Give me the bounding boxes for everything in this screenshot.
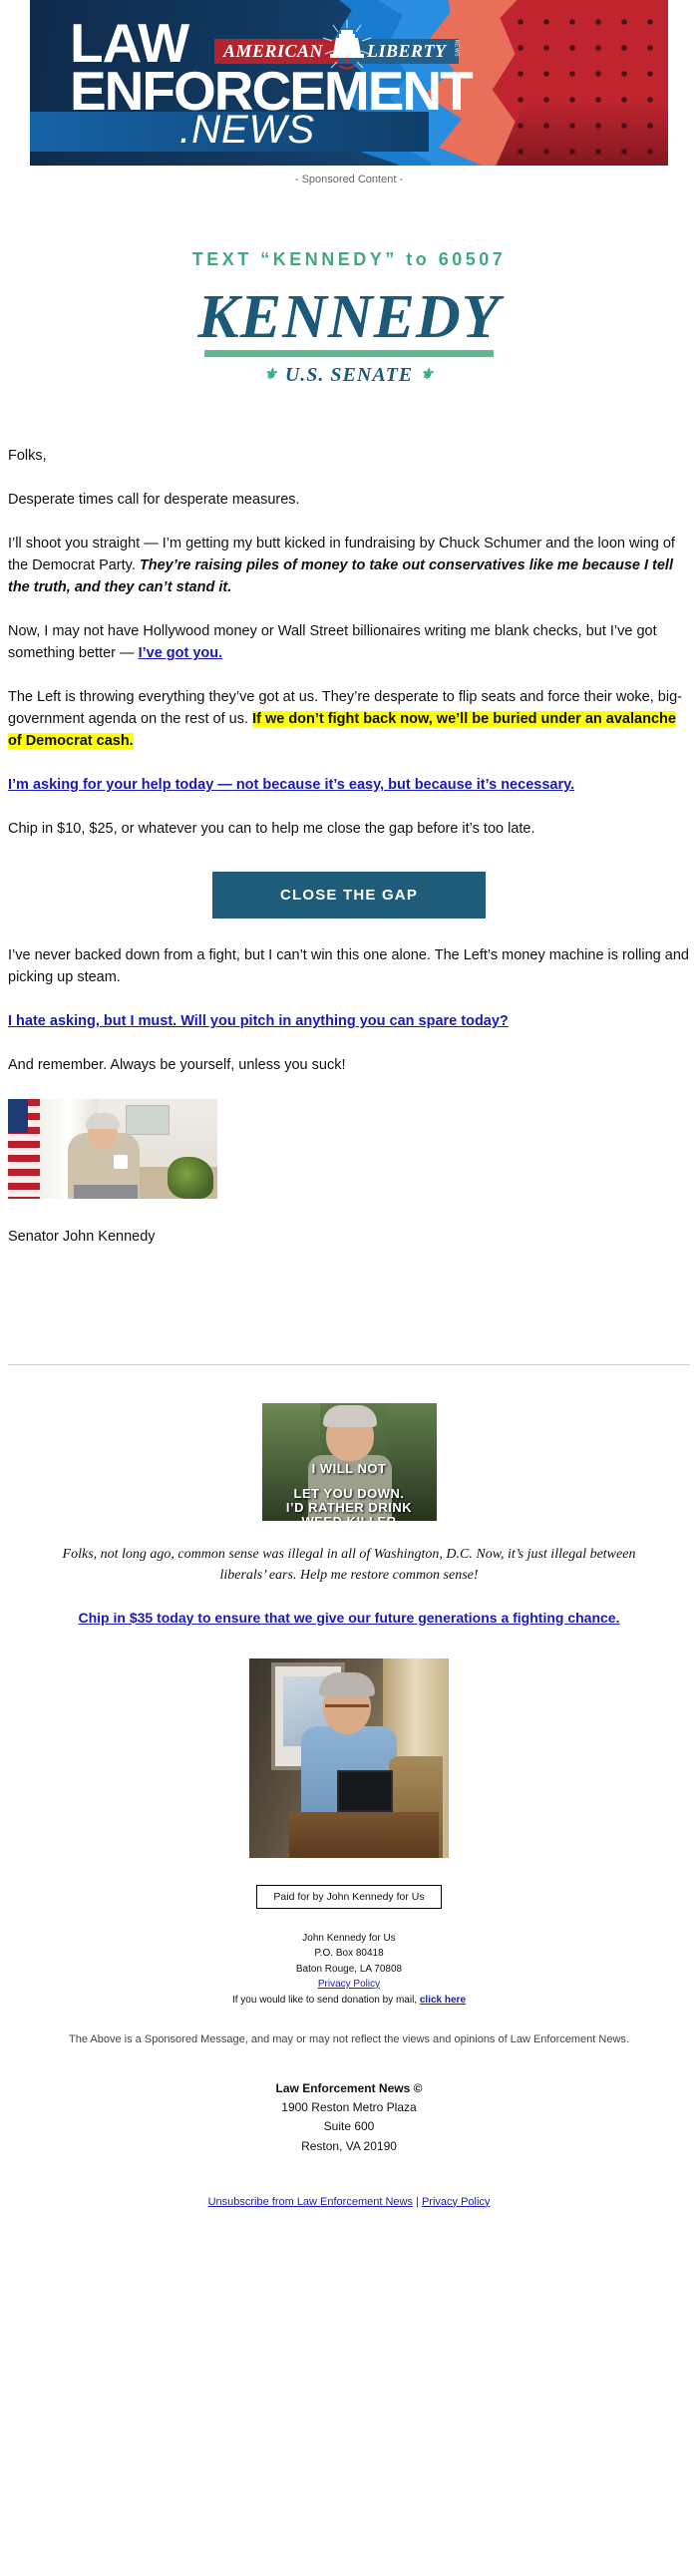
meme-text-1: I WILL NOT <box>312 1461 387 1476</box>
meme-container: I WILL NOT LET YOU DOWN. I’D RATHER DRIN… <box>0 1365 698 1526</box>
law-enforcement-news-banner[interactable]: LAW ENFORCEMENT .NEWS AMERICAN LIBERTY N… <box>30 0 668 166</box>
meme-overlay-line1: I WILL NOT <box>262 1461 437 1476</box>
liberty-bell-icon <box>319 20 375 78</box>
close-the-gap-button[interactable]: CLOSE THE GAP <box>212 872 486 919</box>
salutation: Folks, <box>8 445 690 467</box>
photo1-coffee-mug <box>114 1155 128 1169</box>
photo2-tablet-device <box>337 1770 393 1812</box>
privacy-policy-link-footer[interactable]: Privacy Policy <box>422 2196 490 2208</box>
committee-po-box: P.O. Box 80418 <box>0 1946 698 1962</box>
meme-caption: Folks, not long ago, common sense was il… <box>0 1526 698 1586</box>
publisher-address-3: Reston, VA 20190 <box>0 2137 698 2156</box>
us-senate-label: U.S. SENATE <box>285 364 413 386</box>
kennedy-logo-block[interactable]: TEXT “KENNEDY” to 60507 KENNEDY ⚜U.S. SE… <box>0 189 698 387</box>
publisher-address-2: Suite 600 <box>0 2117 698 2136</box>
photo1-person-legs <box>74 1185 138 1199</box>
committee-city-state-zip: Baton Rouge, LA 70808 <box>0 1962 698 1978</box>
pitch-in-link[interactable]: I hate asking, but I must. Will you pitc… <box>8 1013 509 1029</box>
signature-name: Senator John Kennedy <box>0 1199 698 1245</box>
committee-address-block: John Kennedy for Us P.O. Box 80418 Baton… <box>0 1909 698 2009</box>
letter-body: Folks, Desperate times call for desperat… <box>0 387 698 840</box>
privacy-policy-row: Privacy Policy <box>0 1977 698 1993</box>
paragraph-3: Now, I may not have Hollywood money or W… <box>8 620 690 664</box>
asking-for-help-link[interactable]: I’m asking for your help today — not bec… <box>8 777 574 793</box>
privacy-policy-link-committee[interactable]: Privacy Policy <box>318 1979 380 1990</box>
mail-donation-click-here-link[interactable]: click here <box>420 1995 466 2006</box>
paragraph-2: I’ll shoot you straight — I’m getting my… <box>8 533 690 598</box>
paragraph-5: I’m asking for your help today — not bec… <box>8 774 690 796</box>
paragraph-9: And remember. Always be yourself, unless… <box>8 1054 690 1076</box>
paragraph-4: The Left is throwing everything they’ve … <box>8 686 690 752</box>
text-to-donate-line: TEXT “KENNEDY” to 60507 <box>0 249 698 270</box>
meme-overlay-lines: LET YOU DOWN. I’D RATHER DRINK WEED KILL… <box>262 1487 437 1521</box>
unsubscribe-link[interactable]: Unsubscribe from Law Enforcement News <box>208 2196 413 2208</box>
photo1-plant <box>168 1157 213 1199</box>
photo1-flag-canton <box>8 1099 28 1133</box>
photo1-person-hair <box>86 1113 120 1129</box>
photo2-desk <box>289 1812 439 1858</box>
publisher-footer: Law Enforcement News © 1900 Reston Metro… <box>0 2045 698 2156</box>
paragraph-8: I hate asking, but I must. Will you pitc… <box>8 1010 690 1032</box>
paid-for-disclaimer-box: Paid for by John Kennedy for Us <box>256 1885 441 1909</box>
fleur-de-lis-left-icon: ⚜ <box>256 367 284 383</box>
masthead-wordmark: LAW ENFORCEMENT <box>70 18 472 117</box>
us-senate-line: ⚜U.S. SENATE⚜ <box>0 364 698 387</box>
photo2-person-hair <box>319 1672 375 1696</box>
ive-got-you-link[interactable]: I’ve got you. <box>139 645 223 661</box>
meme-cta-container: Chip in $35 today to ensure that we give… <box>0 1586 698 1629</box>
chip-in-35-link[interactable]: Chip in $35 today to ensure that we give… <box>79 1610 620 1626</box>
email-page: LAW ENFORCEMENT .NEWS AMERICAN LIBERTY N… <box>0 0 698 2230</box>
sponsored-message-disclaimer: The Above is a Sponsored Message, and ma… <box>0 2008 698 2045</box>
letter-body-continued: I’ve never backed down from a fight, but… <box>0 944 698 1076</box>
unsubscribe-separator: | <box>413 2196 422 2208</box>
unsubscribe-row: Unsubscribe from Law Enforcement News | … <box>0 2156 698 2230</box>
publisher-address-1: 1900 Reston Metro Plaza <box>0 2098 698 2117</box>
photo2-container <box>0 1629 698 1863</box>
kennedy-underline-rule <box>204 350 494 357</box>
photo2-glasses-icon <box>325 1704 369 1714</box>
cta-container: CLOSE THE GAP <box>0 862 698 944</box>
meme-text-3: I’D RATHER DRINK <box>262 1501 437 1515</box>
kennedy-wordmark: KENNEDY <box>0 286 698 348</box>
masthead-container: LAW ENFORCEMENT .NEWS AMERICAN LIBERTY N… <box>0 0 698 166</box>
committee-name: John Kennedy for Us <box>0 1931 698 1947</box>
sponsored-content-label: - Sponsored Content - <box>0 166 698 189</box>
mail-donation-row: If you would like to send donation by ma… <box>0 1993 698 2009</box>
masthead-line-news: .NEWS <box>179 108 315 153</box>
meme-text-2: LET YOU DOWN. <box>262 1487 437 1501</box>
paragraph-6: Chip in $10, $25, or whatever you can to… <box>8 818 690 840</box>
fleur-de-lis-right-icon: ⚜ <box>413 367 441 383</box>
weed-killer-meme-image[interactable]: I WILL NOT LET YOU DOWN. I’D RATHER DRIN… <box>262 1403 437 1521</box>
meme-text-4: WEED KILLER <box>262 1515 437 1520</box>
meme-person-hair <box>323 1405 377 1427</box>
paid-for-container: Paid for by John Kennedy for Us <box>0 1863 698 1909</box>
senator-coffee-photo[interactable] <box>8 1099 217 1199</box>
paragraph-1: Desperate times call for desperate measu… <box>8 489 690 511</box>
paragraph-3-plain: Now, I may not have Hollywood money or W… <box>8 623 657 661</box>
kennedy-tablet-photo[interactable] <box>249 1658 449 1858</box>
paragraph-7: I’ve never backed down from a fight, but… <box>8 944 690 988</box>
photo1-window <box>126 1105 170 1135</box>
publisher-name: Law Enforcement News © <box>0 2079 698 2098</box>
badge-news-label: NEWS <box>454 40 460 57</box>
mail-donation-text: If you would like to send donation by ma… <box>232 1995 417 2006</box>
